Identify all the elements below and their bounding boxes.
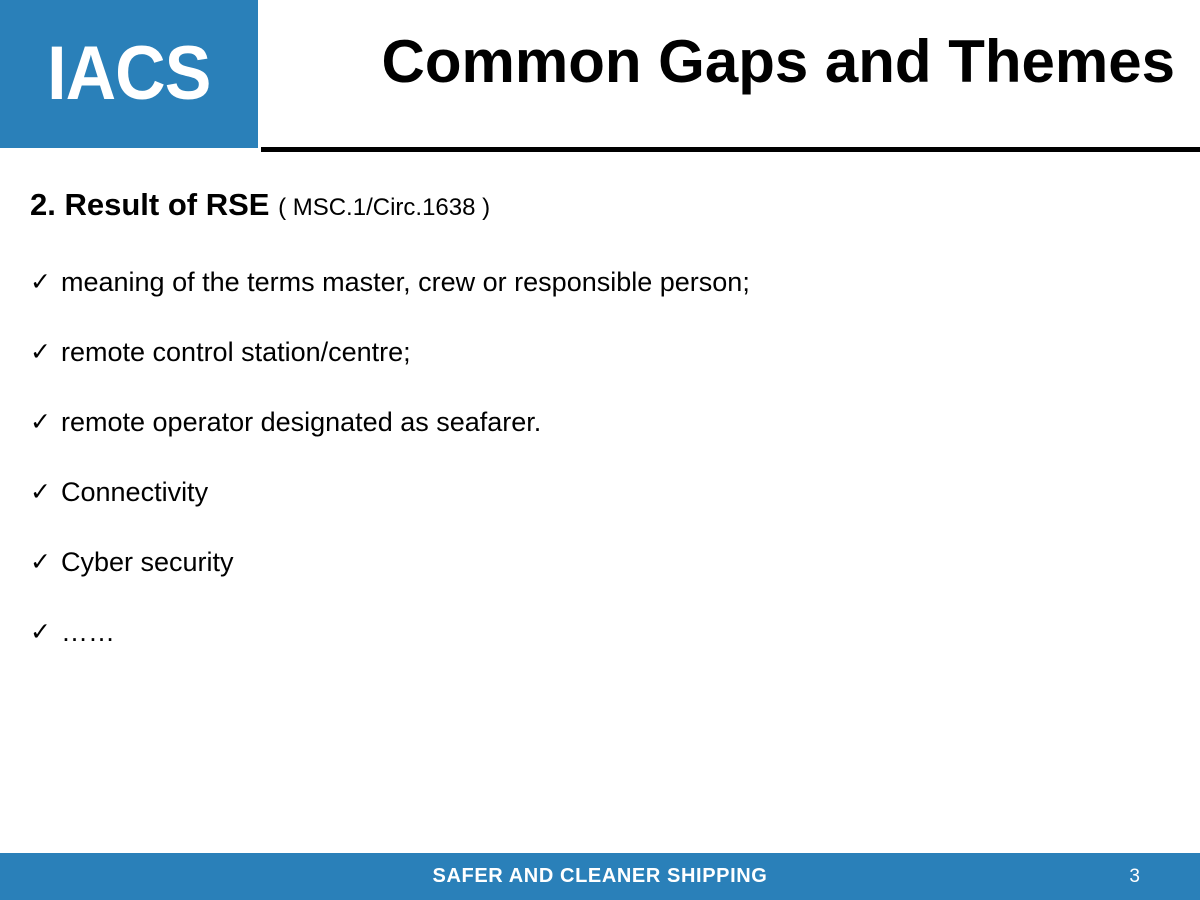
- slide: IACS Common Gaps and Themes 2. Result of…: [0, 0, 1200, 900]
- slide-body: 2. Result of RSE ( MSC.1/Circ.1638 ) ✓ m…: [0, 152, 1200, 852]
- list-item: ✓ Cyber security: [30, 544, 1170, 614]
- checkmark-icon: ✓: [30, 334, 61, 370]
- list-item: ✓ Connectivity: [30, 474, 1170, 544]
- list-item-label: remote operator designated as seafarer.: [61, 404, 541, 440]
- list-item-label: ……: [61, 614, 115, 650]
- list-item: ✓ ……: [30, 614, 1170, 684]
- checkmark-icon: ✓: [30, 404, 61, 440]
- list-item: ✓ remote control station/centre;: [30, 334, 1170, 404]
- list-item-label: remote control station/centre;: [61, 334, 411, 370]
- list-item-label: Connectivity: [61, 474, 208, 510]
- slide-header: IACS Common Gaps and Themes: [0, 0, 1200, 152]
- list-item-label: Cyber security: [61, 544, 234, 580]
- slide-footer: SAFER AND CLEANER SHIPPING 3: [0, 853, 1200, 900]
- footer-tagline: SAFER AND CLEANER SHIPPING: [0, 853, 1200, 900]
- list-item: ✓ meaning of the terms master, crew or r…: [30, 264, 1170, 334]
- page-title: Common Gaps and Themes: [275, 28, 1175, 95]
- checkmark-icon: ✓: [30, 264, 61, 300]
- section-heading-title: 2. Result of RSE: [30, 187, 269, 222]
- list-item: ✓ remote operator designated as seafarer…: [30, 404, 1170, 474]
- checkmark-icon: ✓: [30, 544, 61, 580]
- iacs-logo: IACS: [0, 0, 258, 148]
- iacs-logo-text: IACS: [47, 36, 210, 112]
- checkmark-icon: ✓: [30, 474, 61, 510]
- section-heading-reference: ( MSC.1/Circ.1638 ): [278, 194, 490, 221]
- checkmark-icon: ✓: [30, 614, 61, 650]
- page-number: 3: [1129, 853, 1140, 900]
- list-item-label: meaning of the terms master, crew or res…: [61, 264, 750, 300]
- section-heading: 2. Result of RSE ( MSC.1/Circ.1638 ): [30, 186, 490, 223]
- bullet-list: ✓ meaning of the terms master, crew or r…: [30, 264, 1170, 684]
